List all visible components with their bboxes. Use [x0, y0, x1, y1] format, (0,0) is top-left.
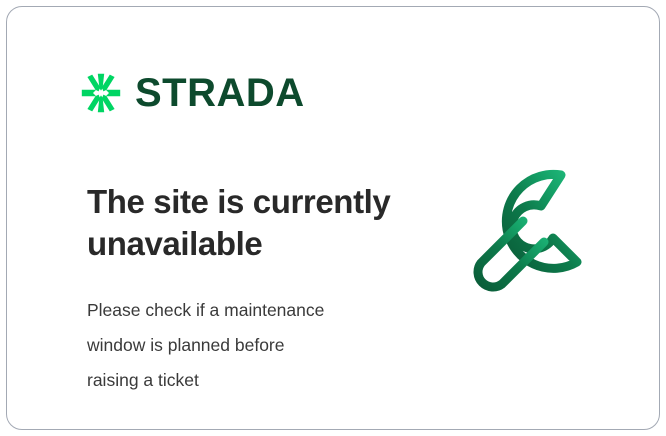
wrench-icon [465, 159, 615, 314]
description-line: raising a ticket [87, 363, 397, 398]
wrench-illustration [465, 159, 615, 314]
error-page: STRADA The site is currently unavailable… [0, 0, 666, 436]
page-title: The site is currently unavailable [87, 181, 417, 264]
message-card: STRADA The site is currently unavailable… [6, 6, 660, 430]
description-line: Please check if a maintenance [87, 293, 397, 328]
strada-asterisk-icon [81, 73, 121, 113]
brand-wordmark: STRADA [135, 73, 305, 113]
description-line: window is planned before [87, 328, 397, 363]
page-description: Please check if a maintenance window is … [87, 293, 397, 398]
brand-logo: STRADA [81, 73, 305, 113]
